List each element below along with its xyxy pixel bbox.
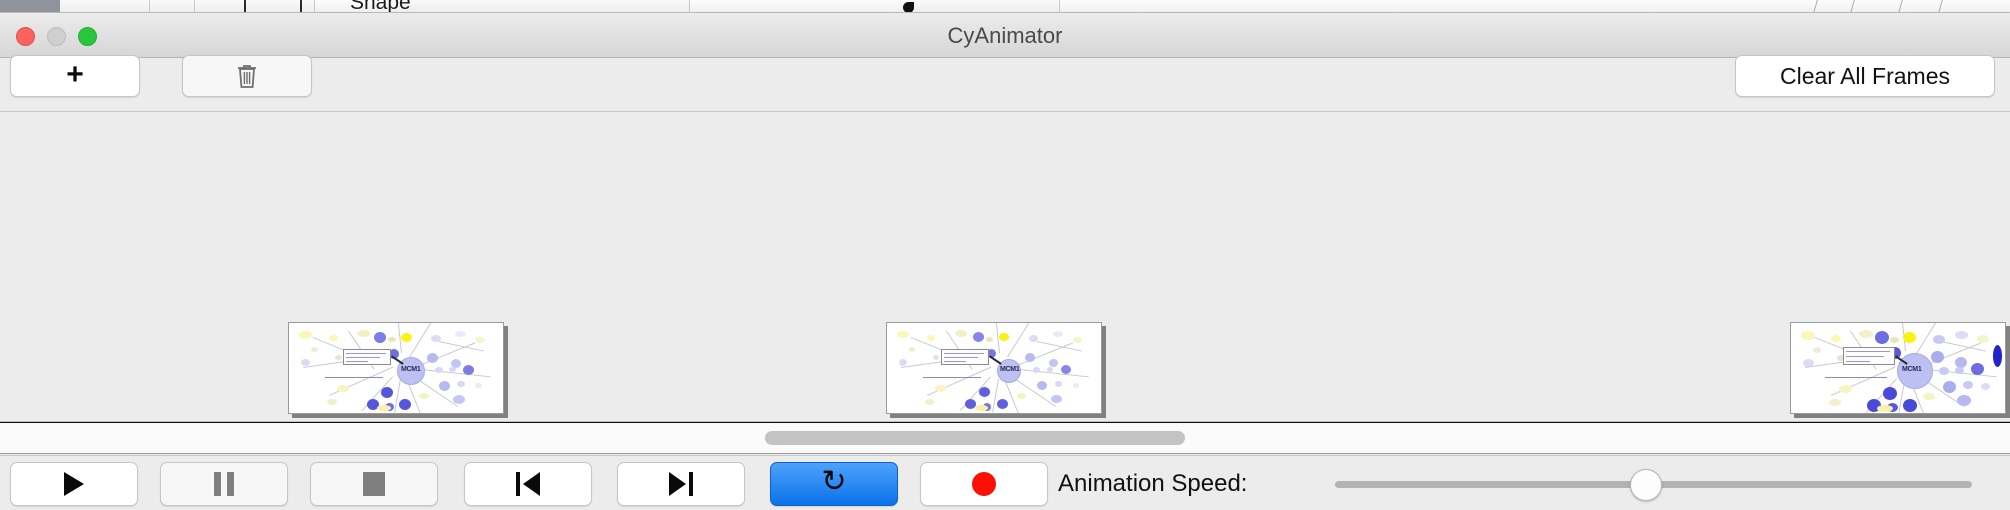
animation-speed-slider[interactable] <box>1335 481 1972 488</box>
hscrollbar-thumb[interactable] <box>765 431 1185 445</box>
cyanimator-window: Shape CyAnimator + Clear All Frames <box>0 0 2010 510</box>
add-frame-button[interactable]: + <box>10 55 140 97</box>
timeline-frame[interactable]: MCM1 <box>288 322 504 414</box>
clear-all-frames-button[interactable]: Clear All Frames <box>1735 55 1995 97</box>
background-window-text: Shape <box>350 0 411 13</box>
title-bar[interactable]: CyAnimator <box>0 13 2010 58</box>
window-title: CyAnimator <box>0 13 2010 58</box>
next-frame-button[interactable] <box>617 462 745 506</box>
timeline-hscrollbar[interactable] <box>0 423 2010 454</box>
background-divider <box>1898 0 1903 13</box>
background-tab <box>900 0 1060 13</box>
network-thumbnail: MCM1 <box>1791 323 2005 413</box>
play-button[interactable] <box>10 462 138 506</box>
network-thumbnail: MCM1 <box>887 323 1101 413</box>
background-divider <box>1850 0 1855 13</box>
background-tab <box>150 0 195 13</box>
background-tab <box>60 0 150 13</box>
skip-next-icon <box>669 472 693 496</box>
hub-node-label: MCM1 <box>401 366 420 373</box>
clear-all-frames-label: Clear All Frames <box>1780 63 1950 90</box>
pause-icon <box>214 472 234 496</box>
stop-button[interactable] <box>310 462 438 506</box>
background-window-sidebar <box>0 0 60 13</box>
record-button[interactable] <box>920 462 1048 506</box>
timeline-frame[interactable]: MCM1 <box>1790 322 2006 414</box>
network-thumbnail: MCM1 <box>289 323 503 413</box>
animation-speed-label: Animation Speed: <box>1058 462 1247 506</box>
delete-frame-button[interactable] <box>182 55 312 97</box>
loop-icon: ↻ <box>821 467 846 497</box>
animation-speed-slider-thumb[interactable] <box>1630 469 1662 501</box>
timeline-frame[interactable]: MCM1 <box>886 322 1102 414</box>
timeline-panel[interactable]: MCM1 <box>0 112 2010 422</box>
previous-frame-button[interactable] <box>464 462 592 506</box>
background-tab <box>390 0 690 13</box>
background-tick <box>300 0 302 13</box>
trash-icon <box>236 63 258 89</box>
plus-icon: + <box>66 60 84 90</box>
hub-node-label: MCM1 <box>1000 366 1019 373</box>
play-icon <box>64 472 84 496</box>
background-tick <box>244 0 246 13</box>
hub-node-label: MCM1 <box>1902 366 1921 373</box>
background-tab <box>195 0 315 13</box>
stop-icon <box>363 472 385 496</box>
background-pointer-icon <box>903 2 914 13</box>
skip-previous-icon <box>516 472 540 496</box>
record-icon <box>972 472 996 496</box>
background-divider <box>1938 0 1943 13</box>
pause-button[interactable] <box>160 462 288 506</box>
background-window-strip: Shape <box>0 0 2010 13</box>
loop-button[interactable]: ↻ <box>770 462 898 506</box>
background-divider <box>1813 0 1818 13</box>
